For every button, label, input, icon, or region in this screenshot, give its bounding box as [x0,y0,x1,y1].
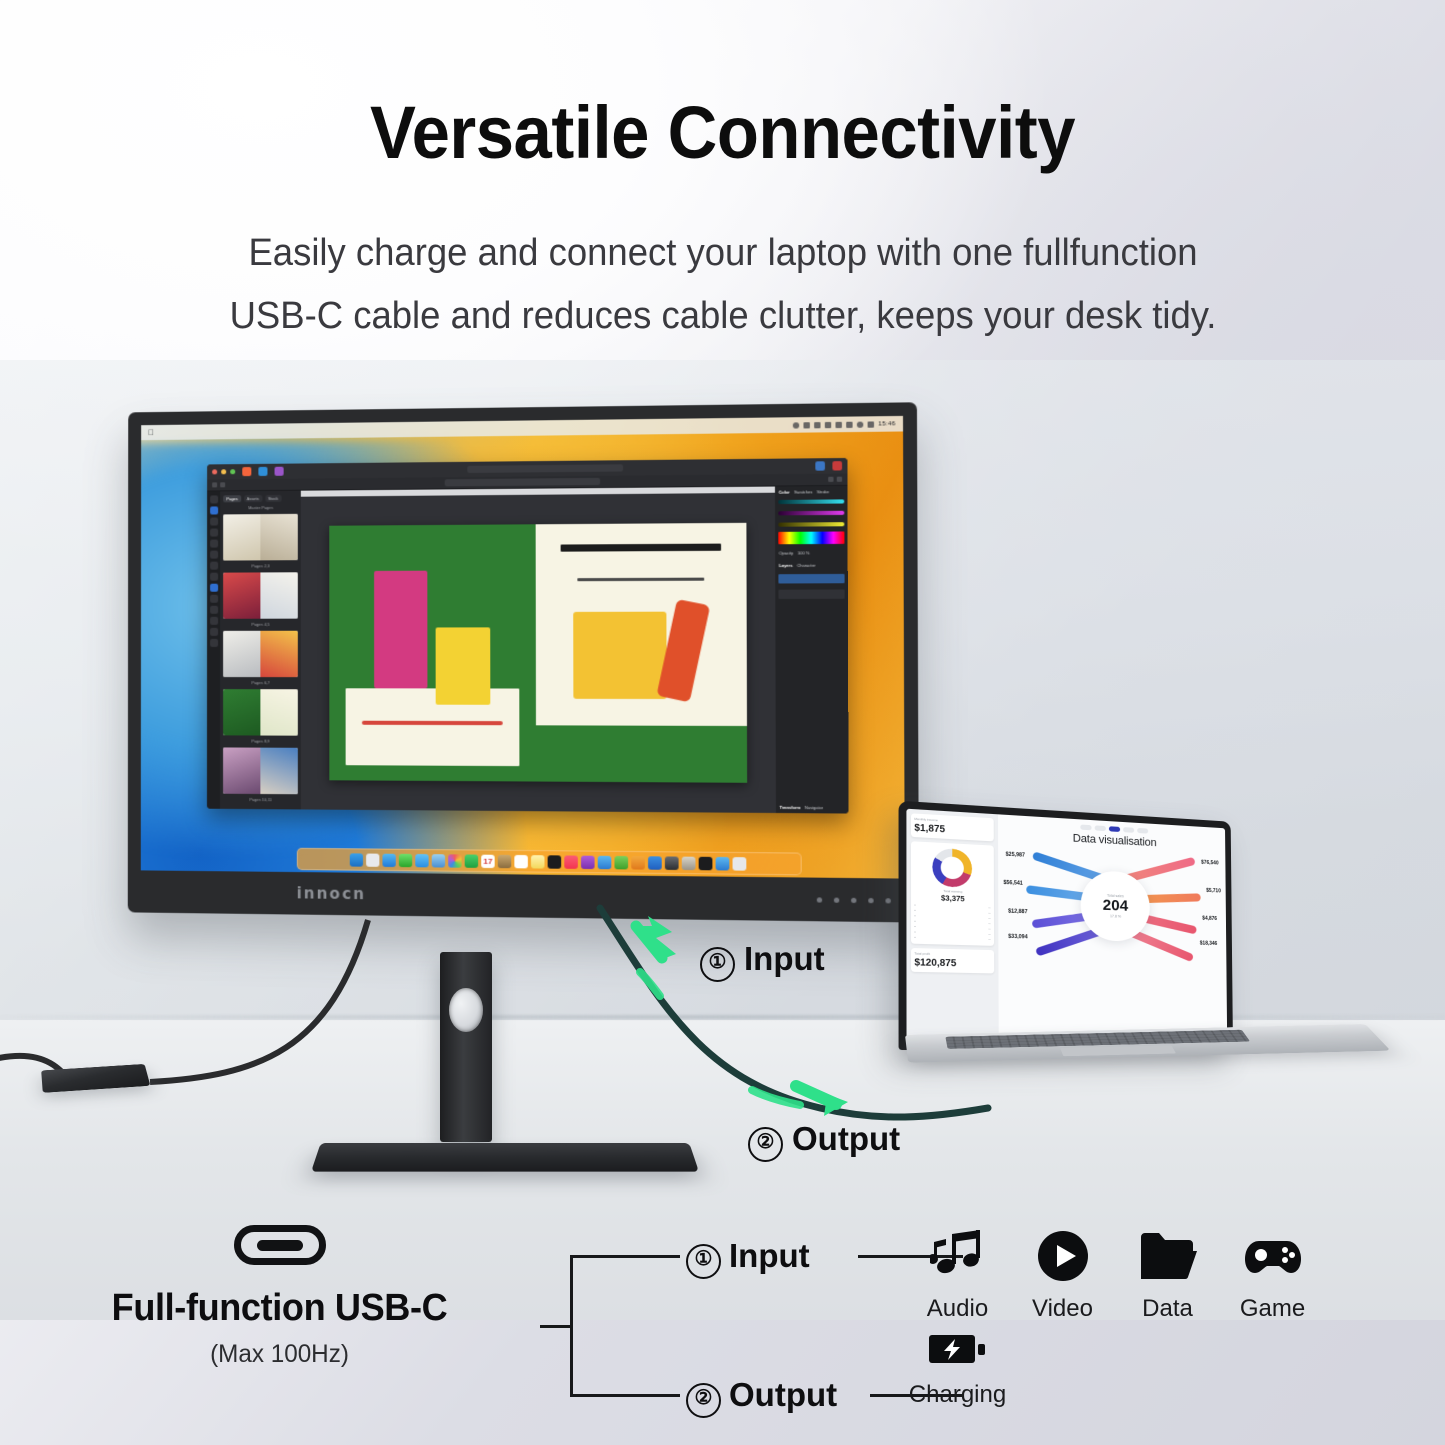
callout-input-label: Input [744,940,825,977]
spec-bar: Full-function USB-C (Max 100Hz) ①Input ②… [0,1215,1445,1445]
page-title: Versatile Connectivity [51,96,1395,170]
feature-data: Data [1115,1223,1220,1323]
cable-overlay [0,360,1445,1220]
feature-game-label: Game [1220,1295,1325,1323]
feature-icons: Audio Video [905,1223,1345,1409]
callout-output-number: ② [748,1127,783,1162]
subtitle-line-2: USB-C cable and reduces cable clutter, k… [132,285,1313,348]
charging-icon [905,1323,1010,1375]
branch-output-number: ② [686,1383,721,1418]
feature-row-2: Charging [905,1323,1345,1409]
branch-label-input: ①Input [686,1237,810,1279]
header: Versatile Connectivity Easily charge and… [0,96,1445,347]
input-arrow-icon [634,916,676,960]
branch-input-label: Input [729,1237,810,1274]
feature-data-label: Data [1115,1295,1220,1323]
usbc-subtitle: (Max 100Hz) [98,1340,462,1369]
bracket-arm-top [570,1255,680,1258]
data-icon [1115,1223,1220,1289]
branch-bracket: ①Input ②Output [540,1237,900,1417]
usbc-title: Full-function USB-C [101,1287,457,1330]
feature-audio-label: Audio [905,1295,1010,1323]
callout-input: ①Input [700,940,825,982]
usb-c-port-icon [234,1225,326,1265]
video-icon [1010,1223,1115,1289]
bracket-stem [540,1325,572,1328]
callout-output-label: Output [792,1120,900,1157]
branch-label-output: ②Output [686,1376,837,1418]
callout-input-number: ① [700,947,735,982]
usbc-block: Full-function USB-C (Max 100Hz) [92,1225,467,1369]
callout-output: ②Output [748,1120,900,1162]
feature-charging: Charging [905,1323,1010,1409]
game-icon [1220,1223,1325,1289]
audio-icon [905,1223,1010,1289]
page-subtitle: Easily charge and connect your laptop wi… [132,222,1313,347]
branch-input-number: ① [686,1244,721,1279]
bracket-arm-bottom [570,1394,680,1397]
feature-video: Video [1010,1223,1115,1323]
feature-audio: Audio [905,1223,1010,1323]
feature-game: Game [1220,1223,1325,1323]
product-photo-scene:  15:46 [0,360,1445,1220]
cable-highlight-1 [640,972,660,996]
feature-row-1: Audio Video [905,1223,1345,1323]
bracket-vertical [570,1255,573,1397]
branch-output-label: Output [729,1376,837,1413]
feature-video-label: Video [1010,1295,1115,1323]
subtitle-line-1: Easily charge and connect your laptop wi… [132,222,1313,285]
power-cable-to-monitor [150,920,368,1082]
product-feature-image: Versatile Connectivity Easily charge and… [0,0,1445,1445]
feature-charging-label: Charging [905,1381,1010,1409]
